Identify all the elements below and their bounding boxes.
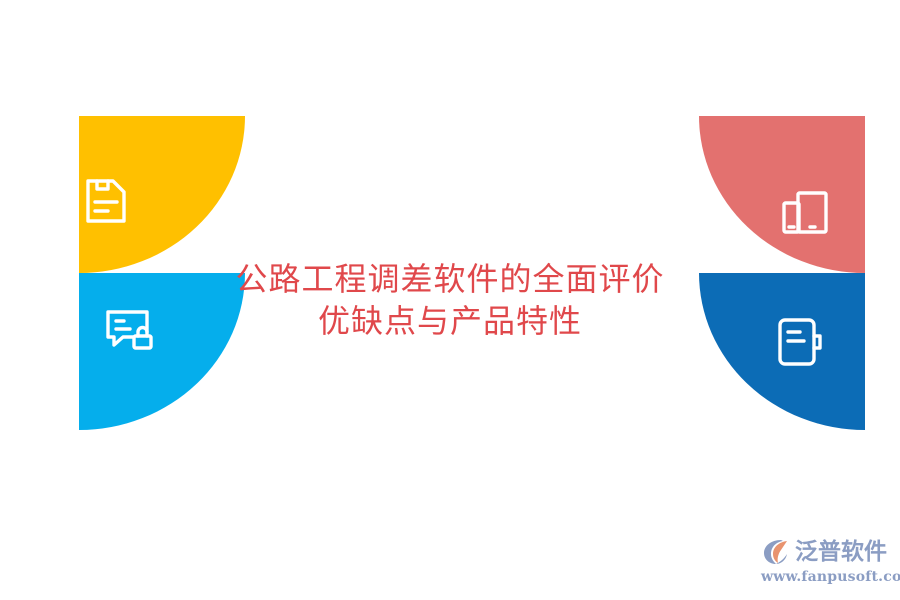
brand-url: www.fanpusoft.com xyxy=(761,569,900,585)
petal-right-top-fill xyxy=(699,116,865,273)
petal-right-top xyxy=(699,116,865,273)
poster-title-line-1: 公路工程调差软件的全面评价 xyxy=(0,258,900,300)
poster-canvas: 公路工程调差软件的全面评价 优缺点与产品特性 泛普软件 www.fanpusof… xyxy=(0,0,900,600)
poster-title: 公路工程调差软件的全面评价 优缺点与产品特性 xyxy=(0,258,900,342)
brand-name: 泛普软件 xyxy=(795,541,887,564)
brand-watermark: 泛普软件 www.fanpusoft.com xyxy=(760,536,892,588)
petal-left-top xyxy=(79,116,245,273)
brand-row: 泛普软件 xyxy=(760,536,887,568)
fanpu-leaf-logo-icon xyxy=(760,537,792,567)
petal-left-top-fill xyxy=(79,116,245,273)
poster-title-line-2: 优缺点与产品特性 xyxy=(0,300,900,342)
